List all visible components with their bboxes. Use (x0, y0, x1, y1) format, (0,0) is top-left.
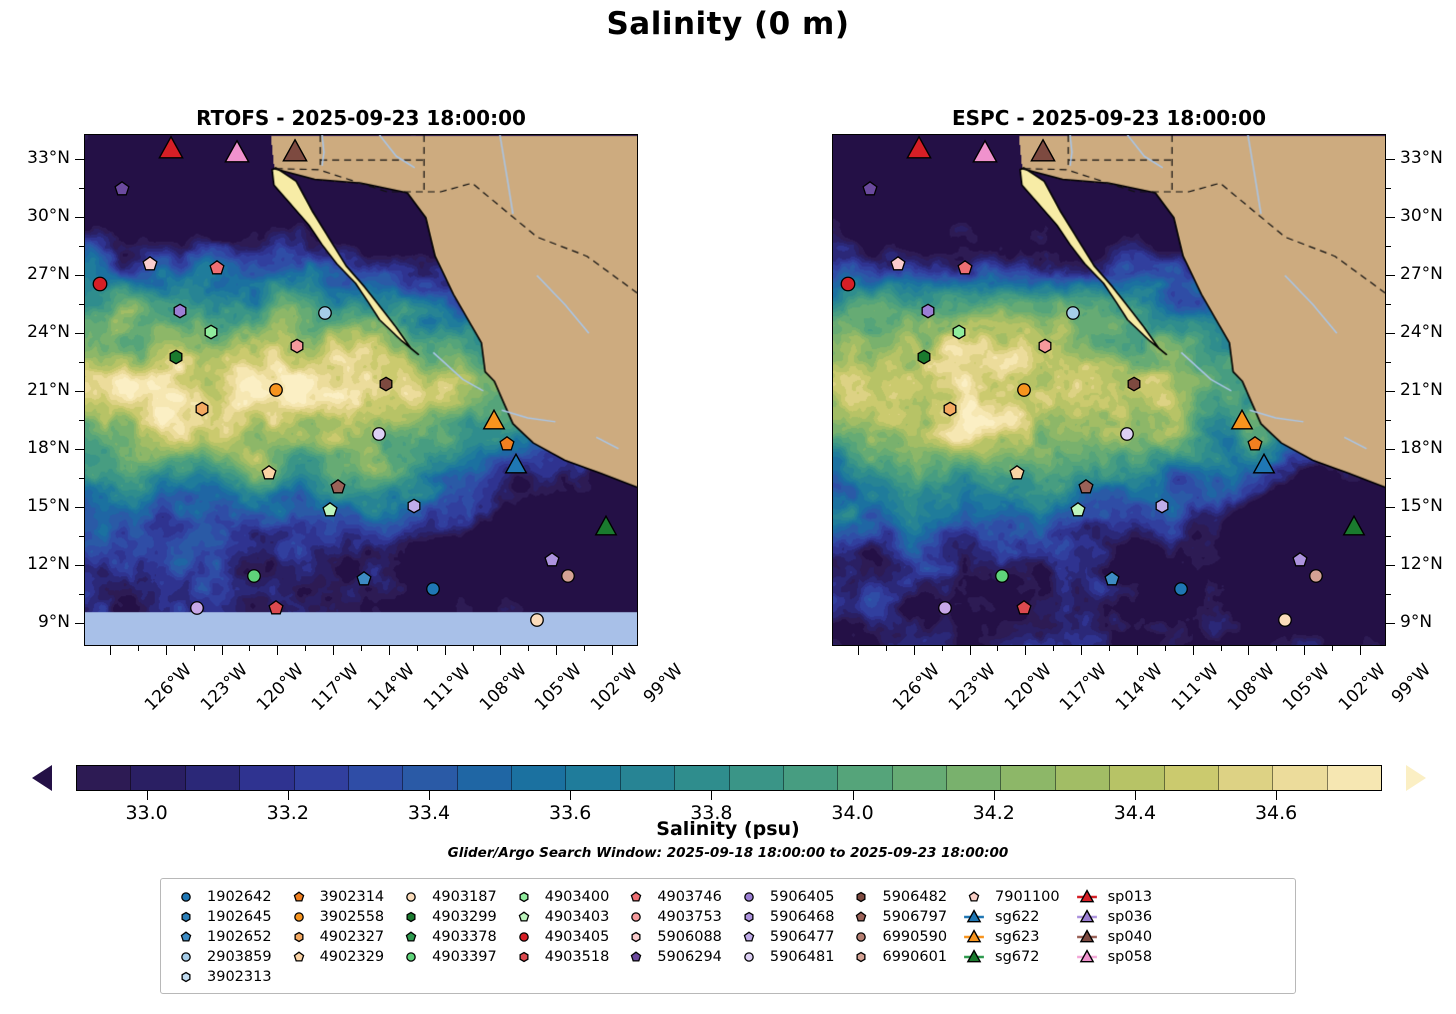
legend-marker-circle-icon (732, 888, 766, 906)
y-tick (1386, 391, 1395, 392)
map-marker-3902558[interactable] (262, 376, 291, 405)
x-tick (500, 646, 501, 655)
map-marker-5906088[interactable] (136, 250, 165, 279)
map-marker-sg672[interactable] (1336, 509, 1372, 545)
legend-label: 6990590 (878, 929, 947, 945)
map-marker-4902327[interactable] (936, 395, 965, 424)
y-tick (1386, 565, 1395, 566)
y-tick-label: 24°N (1400, 322, 1456, 342)
legend-item-4902327[interactable]: 4902327 (282, 927, 395, 947)
colorbar-segment (403, 766, 457, 790)
legend-item-4903187[interactable]: 4903187 (394, 887, 507, 907)
map-marker-4902327[interactable] (188, 395, 217, 424)
y-tick (75, 565, 84, 566)
map-marker-6990601[interactable] (554, 561, 583, 590)
legend-item-5906481[interactable]: 5906481 (732, 947, 845, 967)
x-tick-minor (942, 646, 943, 651)
legend-item-3902314[interactable]: 3902314 (282, 887, 395, 907)
legend-marker-circle-icon (394, 948, 428, 966)
panel-title-espc: ESPC - 2025-09-23 18:00:00 (832, 106, 1386, 130)
legend-marker-pentagon-icon (732, 928, 766, 946)
legend-marker-triangle-icon (1070, 908, 1104, 926)
legend-marker-circle-icon (169, 888, 203, 906)
colorbar-tick (711, 791, 712, 800)
legend-marker-triangle-icon (1070, 948, 1104, 966)
legend-marker-hexagon-icon (169, 908, 203, 926)
legend-item-3902558[interactable]: 3902558 (282, 907, 395, 927)
x-tick (1360, 646, 1361, 655)
legend-item-sg623[interactable]: sg623 (957, 927, 1070, 947)
x-tick-label: 102°W (1335, 660, 1390, 715)
y-tick (1386, 507, 1395, 508)
legend-column: 5906482590679769905906990601 (844, 887, 957, 987)
colorbar-segment (1219, 766, 1273, 790)
legend-marker-pentagon-icon (957, 888, 991, 906)
colorbar-segment (1328, 766, 1381, 790)
x-tick (1304, 646, 1305, 655)
legend-marker-hexagon-icon (394, 908, 428, 926)
legend-label: 2903859 (203, 949, 272, 965)
y-tick-minor (79, 362, 84, 363)
colorbar-segment (1001, 766, 1055, 790)
x-tick-minor (1053, 646, 1054, 651)
x-tick-minor (1165, 646, 1166, 651)
legend-marker-circle-icon (394, 888, 428, 906)
map-marker-4903746[interactable] (951, 254, 980, 283)
y-tick-label: 18°N (0, 438, 70, 458)
y-tick (1386, 333, 1395, 334)
legend-item-sp040[interactable]: sp040 (1070, 927, 1162, 947)
legend-column: 4903400490340349034054903518 (507, 887, 620, 987)
y-tick-label: 18°N (1400, 438, 1456, 458)
colorbar-segment (838, 766, 892, 790)
legend-label: 4903378 (428, 929, 497, 945)
legend-column: 19026421902645190265229038593902313 (169, 887, 282, 987)
legend-marker-circle-icon (507, 928, 541, 946)
legend-column: 4903746490375359060885906294 (619, 887, 732, 987)
map-marker-4903187[interactable] (522, 606, 551, 635)
y-tick (75, 449, 84, 450)
y-tick (1386, 217, 1395, 218)
x-tick-minor (417, 646, 418, 651)
y-tick-label: 33°N (1400, 148, 1456, 168)
map-marker-sp040[interactable] (275, 134, 316, 173)
map-marker-4903518[interactable] (1010, 594, 1039, 623)
legend-item-4903400[interactable]: 4903400 (507, 887, 620, 907)
y-tick-minor (79, 478, 84, 479)
map-marker-5906294[interactable] (108, 175, 137, 204)
x-tick-label: 120°W (1000, 660, 1055, 715)
map-marker-4903753[interactable] (283, 331, 312, 360)
x-tick-label: 114°W (364, 660, 419, 715)
colorbar-extend-low (32, 765, 52, 791)
y-tick-minor (1386, 594, 1391, 595)
y-tick-minor (1386, 536, 1391, 537)
legend-label: 5906797 (878, 909, 947, 925)
legend-item-5906294[interactable]: 5906294 (619, 947, 732, 967)
map-marker-5906405[interactable] (165, 296, 194, 325)
legend-item-4903753[interactable]: 4903753 (619, 907, 732, 927)
map-marker-sp013[interactable] (898, 134, 939, 170)
map-marker-5906480[interactable] (182, 594, 211, 623)
legend-item-4903378[interactable]: 4903378 (394, 927, 507, 947)
x-tick-minor (997, 646, 998, 651)
map-marker-5906088[interactable] (884, 250, 913, 279)
map-marker-sp040[interactable] (1023, 134, 1064, 173)
x-tick (445, 646, 446, 655)
x-tick-label: 108°W (1224, 660, 1279, 715)
x-tick (556, 646, 557, 655)
y-tick-minor (1386, 478, 1391, 479)
x-tick-minor (1276, 646, 1277, 651)
legend-label: sp036 (1104, 909, 1152, 925)
legend-label: 6990601 (878, 949, 947, 965)
legend-marker-hexagon-icon (844, 888, 878, 906)
map-marker-sg622[interactable] (1246, 447, 1282, 483)
colorbar-segment (240, 766, 294, 790)
colorbar-segment (947, 766, 1001, 790)
legend-label: 4903753 (653, 909, 722, 925)
legend-item-sp013[interactable]: sp013 (1070, 887, 1162, 907)
legend-marker-hexagon-icon (619, 928, 653, 946)
legend-item-sp036[interactable]: sp036 (1070, 907, 1162, 927)
map-marker-4903518[interactable] (262, 594, 291, 623)
legend-item-4902329[interactable]: 4902329 (282, 947, 395, 967)
y-tick-minor (79, 188, 84, 189)
legend-label: 5906405 (766, 889, 835, 905)
legend: 1902642190264519026522903859390231339023… (160, 878, 1296, 994)
legend-column: 5906405590646859064775906481 (732, 887, 845, 987)
x-tick-label: 105°W (531, 660, 586, 715)
map-marker-6990601[interactable] (1302, 561, 1331, 590)
legend-marker-pentagon-icon (282, 948, 316, 966)
map-marker-4903299[interactable] (910, 343, 939, 372)
colorbar-segment (295, 766, 349, 790)
legend-label: 4903403 (541, 909, 610, 925)
legend-label: 1902645 (203, 909, 272, 925)
map-marker-5906477[interactable] (400, 492, 429, 521)
y-tick-label: 12°N (0, 554, 70, 574)
colorbar-extend-high (1406, 765, 1426, 791)
legend-label: 3902314 (316, 889, 385, 905)
colorbar-segment (675, 766, 729, 790)
y-tick-minor (1386, 304, 1391, 305)
y-tick-label: 9°N (0, 612, 70, 632)
map-marker-4903405[interactable] (832, 268, 863, 299)
legend-marker-pentagon-icon (619, 948, 653, 966)
colorbar-tick (1135, 791, 1136, 800)
legend-marker-hexagon-icon (844, 948, 878, 966)
legend-marker-triangle-icon (1070, 888, 1104, 906)
x-tick (1248, 646, 1249, 655)
y-tick-label: 27°N (0, 264, 70, 284)
legend-marker-circle-icon (282, 908, 316, 926)
legend-item-4903397[interactable]: 4903397 (394, 947, 507, 967)
legend-marker-triangle-icon (957, 928, 991, 946)
y-tick (75, 217, 84, 218)
panel-espc: ESPC - 2025-09-23 18:00:00 33°N30°N27°N2… (832, 134, 1386, 646)
map-marker-4903299[interactable] (162, 343, 191, 372)
x-tick (970, 646, 971, 655)
x-tick-label: 123°W (945, 660, 1000, 715)
colorbar-segment (893, 766, 947, 790)
map-marker-1902652[interactable] (1097, 565, 1126, 594)
colorbar-segment (1165, 766, 1219, 790)
map-marker-2903859[interactable] (310, 298, 339, 327)
x-tick-minor (886, 646, 887, 651)
y-tick (1386, 449, 1395, 450)
y-tick-label: 21°N (0, 380, 70, 400)
legend-label: sp058 (1104, 949, 1152, 965)
x-tick-minor (138, 646, 139, 651)
colorbar-tick (853, 791, 854, 800)
map-marker-4903397[interactable] (988, 561, 1017, 590)
y-tick (1386, 159, 1395, 160)
legend-label: 5906482 (878, 889, 947, 905)
legend-marker-pentagon-icon (394, 928, 428, 946)
x-tick (1137, 646, 1138, 655)
legend-label: sg622 (991, 909, 1039, 925)
y-tick-label: 15°N (0, 496, 70, 516)
x-tick-label: 117°W (308, 660, 363, 715)
map-marker-4903397[interactable] (240, 561, 269, 590)
legend-marker-circle-icon (732, 948, 766, 966)
x-tick-label: 111°W (420, 660, 475, 715)
x-tick-label: 117°W (1056, 660, 1111, 715)
colorbar-segment (566, 766, 620, 790)
map-marker-4903400[interactable] (945, 318, 974, 347)
y-tick-label: 30°N (0, 206, 70, 226)
map-marker-4903753[interactable] (1031, 331, 1060, 360)
legend-item-5906405[interactable]: 5906405 (732, 887, 845, 907)
y-tick-label: 30°N (1400, 206, 1456, 226)
legend-marker-circle-icon (169, 948, 203, 966)
legend-marker-circle-icon (844, 928, 878, 946)
x-tick (166, 646, 167, 655)
legend-label: 5906088 (653, 929, 722, 945)
x-tick-label: 126°W (889, 660, 944, 715)
legend-item-5906482[interactable]: 5906482 (844, 887, 957, 907)
x-tick (277, 646, 278, 655)
legend-item-1902652[interactable]: 1902652 (169, 927, 282, 947)
x-tick-label: 123°W (197, 660, 252, 715)
colorbar-title: Salinity (psu) (0, 818, 1456, 840)
y-tick-label: 15°N (1400, 496, 1456, 516)
map-marker-4903400[interactable] (197, 318, 226, 347)
y-tick-minor (79, 420, 84, 421)
x-tick-minor (528, 646, 529, 651)
x-tick-minor (305, 646, 306, 651)
x-tick (858, 646, 859, 655)
map-marker-4903405[interactable] (84, 268, 115, 299)
colorbar-segment (512, 766, 566, 790)
legend-marker-triangle-icon (957, 948, 991, 966)
legend-label: 4903299 (428, 909, 497, 925)
y-tick-minor (1386, 188, 1391, 189)
legend-item-5906797[interactable]: 5906797 (844, 907, 957, 927)
legend-marker-pentagon-icon (169, 928, 203, 946)
x-tick-minor (1221, 646, 1222, 651)
colorbar-segment (1110, 766, 1164, 790)
x-tick (222, 646, 223, 655)
x-tick-label: 99°W (640, 660, 687, 707)
legend-item-sp058[interactable]: sp058 (1070, 947, 1162, 967)
colorbar-segment (784, 766, 838, 790)
search-window-text: Glider/Argo Search Window: 2025-09-18 18… (0, 845, 1456, 861)
y-tick (75, 159, 84, 160)
x-tick (389, 646, 390, 655)
x-tick-label: 114°W (1112, 660, 1167, 715)
legend-item-4903746[interactable]: 4903746 (619, 887, 732, 907)
legend-item-6990590[interactable]: 6990590 (844, 927, 957, 947)
legend-label: 7901100 (991, 889, 1060, 905)
map-marker-1902652[interactable] (349, 565, 378, 594)
legend-label: 5906477 (766, 929, 835, 945)
y-tick (75, 275, 84, 276)
x-tick (612, 646, 613, 655)
map-marker-4903403[interactable] (1064, 495, 1093, 524)
map-marker-4903746[interactable] (203, 254, 232, 283)
legend-label: sp013 (1104, 889, 1152, 905)
legend-label: 4902329 (316, 949, 385, 965)
x-tick-minor (361, 646, 362, 651)
map-marker-1902642[interactable] (418, 575, 447, 604)
y-tick-minor (1386, 246, 1391, 247)
map-marker-sg622[interactable] (498, 447, 534, 483)
y-tick-label: 27°N (1400, 264, 1456, 284)
legend-label: 4903405 (541, 929, 610, 945)
map-marker-5906480[interactable] (930, 594, 959, 623)
legend-marker-pentagon-icon (619, 888, 653, 906)
legend-label: 5906481 (766, 949, 835, 965)
x-tick (333, 646, 334, 655)
map-espc[interactable] (832, 134, 1386, 646)
y-tick-minor (79, 536, 84, 537)
map-marker-3902558[interactable] (1010, 376, 1039, 405)
legend-item-1902645[interactable]: 1902645 (169, 907, 282, 927)
y-tick-minor (79, 304, 84, 305)
map-marker-sp058[interactable] (217, 134, 258, 174)
map-marker-4902329[interactable] (255, 459, 284, 488)
colorbar-segment (186, 766, 240, 790)
y-tick-label: 24°N (0, 322, 70, 342)
map-marker-5906482[interactable] (372, 370, 401, 399)
legend-item-7901100[interactable]: 7901100 (957, 887, 1070, 907)
legend-item-5906468[interactable]: 5906468 (732, 907, 845, 927)
y-tick-label: 33°N (0, 148, 70, 168)
map-marker-2903859[interactable] (1058, 298, 1087, 327)
legend-item-2903859[interactable]: 2903859 (169, 947, 282, 967)
map-marker-5906477[interactable] (1148, 492, 1177, 521)
legend-label: 4903518 (541, 949, 610, 965)
legend-column: 3902314390255849023274902329 (282, 887, 395, 987)
x-tick (914, 646, 915, 655)
map-marker-1902642[interactable] (1166, 575, 1195, 604)
legend-marker-hexagon-icon (507, 948, 541, 966)
map-marker-5906294[interactable] (856, 175, 885, 204)
y-tick-label: 9°N (1400, 612, 1456, 632)
y-tick-minor (1386, 362, 1391, 363)
x-tick-label: 108°W (476, 660, 531, 715)
legend-label: 4902327 (316, 929, 385, 945)
legend-item-6990601[interactable]: 6990601 (844, 947, 957, 967)
x-tick-minor (249, 646, 250, 651)
legend-label: 4903746 (653, 889, 722, 905)
legend-label: 3902558 (316, 909, 385, 925)
legend-marker-pentagon-icon (507, 908, 541, 926)
x-tick-label: 111°W (1168, 660, 1223, 715)
map-marker-4903403[interactable] (316, 495, 345, 524)
map-marker-sg672[interactable] (588, 509, 624, 545)
colorbar-segment (77, 766, 131, 790)
map-marker-5906481[interactable] (1112, 420, 1141, 449)
legend-label: 4903397 (428, 949, 497, 965)
legend-marker-hexagon-icon (169, 968, 203, 986)
legend-item-4903518[interactable]: 4903518 (507, 947, 620, 967)
colorbar-tick (288, 791, 289, 800)
x-tick-minor (473, 646, 474, 651)
x-tick (1025, 646, 1026, 655)
y-tick-label: 21°N (1400, 380, 1456, 400)
legend-item-sg672[interactable]: sg672 (957, 947, 1070, 967)
y-tick (75, 333, 84, 334)
legend-column: 4903187490329949033784903397 (394, 887, 507, 987)
colorbar[interactable]: 33.033.233.433.633.834.034.234.434.6 (30, 765, 1428, 791)
colorbar-tick (147, 791, 148, 800)
legend-item-3902313[interactable]: 3902313 (169, 967, 282, 987)
legend-label: 5906294 (653, 949, 722, 965)
legend-label: sg623 (991, 929, 1039, 945)
panel-title-rtofs: RTOFS - 2025-09-23 18:00:00 (84, 106, 638, 130)
legend-marker-circle-icon (619, 908, 653, 926)
legend-item-5906477[interactable]: 5906477 (732, 927, 845, 947)
legend-item-4903403[interactable]: 4903403 (507, 907, 620, 927)
panel-rtofs: RTOFS - 2025-09-23 18:00:00 33°N30°N27°N… (84, 134, 638, 646)
x-tick-minor (1332, 646, 1333, 651)
y-tick (1386, 275, 1395, 276)
legend-item-sg622[interactable]: sg622 (957, 907, 1070, 927)
map-marker-4902329[interactable] (1003, 459, 1032, 488)
colorbar-segment (349, 766, 403, 790)
legend-item-5906088[interactable]: 5906088 (619, 927, 732, 947)
legend-grid: 1902642190264519026522903859390231339023… (169, 887, 1287, 987)
colorbar-tick (429, 791, 430, 800)
map-marker-5906405[interactable] (913, 296, 942, 325)
x-tick-label: 102°W (587, 660, 642, 715)
map-rtofs[interactable] (84, 134, 638, 646)
legend-item-1902642[interactable]: 1902642 (169, 887, 282, 907)
map-marker-5906482[interactable] (1120, 370, 1149, 399)
legend-column: 7901100sg622sg623sg672 (957, 887, 1070, 987)
y-tick-label: 12°N (1400, 554, 1456, 574)
legend-marker-pentagon-icon (844, 908, 878, 926)
x-tick-label: 99°W (1388, 660, 1435, 707)
map-marker-sp058[interactable] (965, 134, 1006, 174)
y-tick (75, 623, 84, 624)
map-marker-4903187[interactable] (1270, 606, 1299, 635)
x-tick-label: 126°W (141, 660, 196, 715)
x-tick-minor (194, 646, 195, 651)
legend-item-4903405[interactable]: 4903405 (507, 927, 620, 947)
map-marker-sp013[interactable] (150, 134, 191, 170)
legend-marker-hexagon-icon (732, 908, 766, 926)
map-marker-5906481[interactable] (364, 420, 393, 449)
legend-label: 4903400 (541, 889, 610, 905)
colorbar-segment (730, 766, 784, 790)
legend-marker-hexagon-icon (507, 888, 541, 906)
legend-item-4903299[interactable]: 4903299 (394, 907, 507, 927)
x-tick-minor (584, 646, 585, 651)
